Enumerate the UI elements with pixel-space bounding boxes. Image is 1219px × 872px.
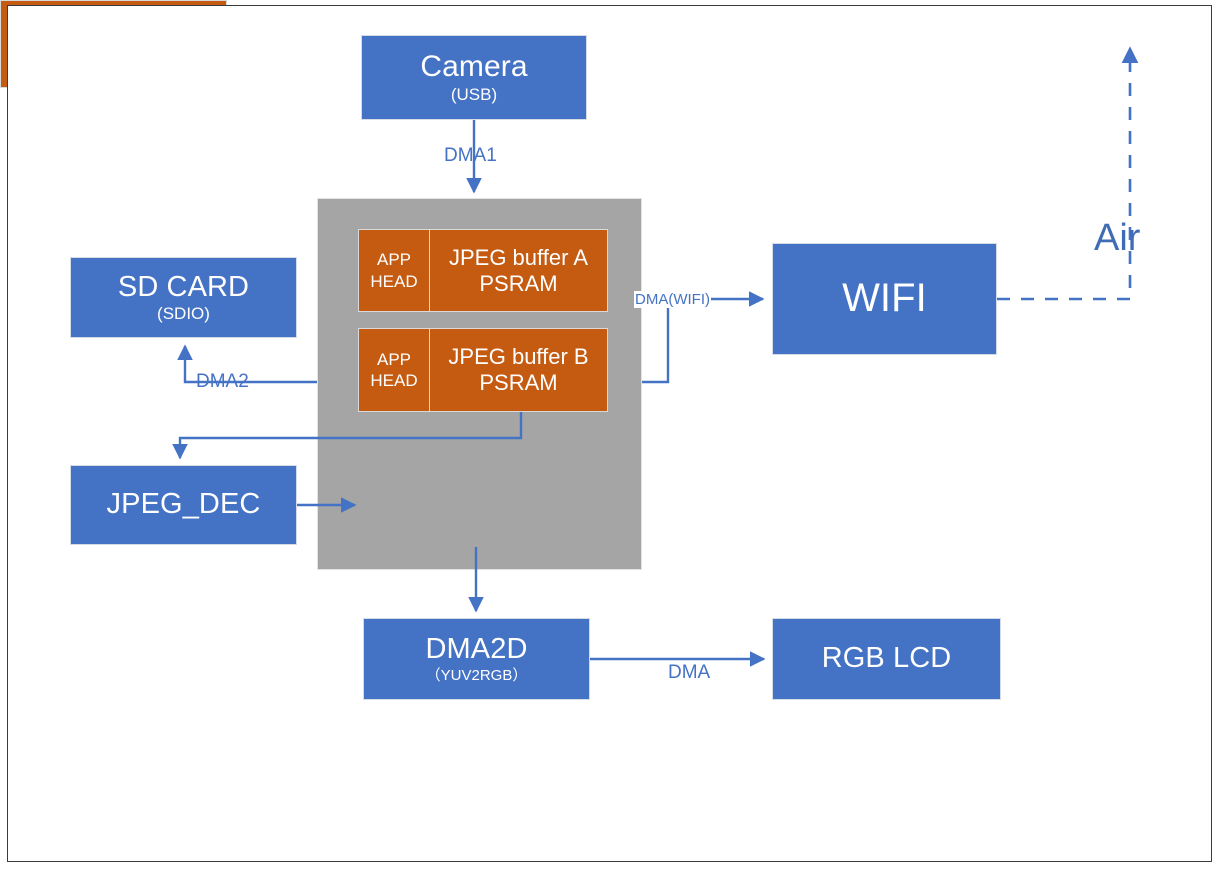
edge-label-dma-wifi: DMA(WIFI) <box>634 291 711 308</box>
node-jpeg-dec[interactable]: JPEG_DEC <box>70 465 297 545</box>
node-camera-title: Camera <box>420 51 527 83</box>
node-sd-card[interactable]: SD CARD (SDIO) <box>70 257 297 338</box>
edge-label-dma1: DMA1 <box>444 146 497 165</box>
node-jpeg-dec-title: JPEG_DEC <box>107 489 261 520</box>
jpeg-buffer-b-body: JPEG buffer B PSRAM <box>430 329 607 411</box>
jpeg-buffer-a-body: JPEG buffer A PSRAM <box>430 230 607 311</box>
node-dma2d-title: DMA2D <box>425 634 527 665</box>
jpeg-buffer-b-line1: JPEG buffer B <box>448 344 588 370</box>
node-sd-card-subtitle: (SDIO) <box>157 305 210 323</box>
annotation-air: Air <box>1094 219 1140 257</box>
edge-label-dma2: DMA2 <box>196 372 249 391</box>
jpeg-buffer-b-app-head-line1: APP <box>377 349 411 370</box>
jpeg-buffer-a-app-head-line2: HEAD <box>370 271 417 292</box>
jpeg-buffer-b-line2: PSRAM <box>479 370 557 396</box>
node-camera[interactable]: Camera (USB) <box>361 35 587 120</box>
node-camera-subtitle: (USB) <box>451 86 497 104</box>
jpeg-buffer-b[interactable]: APP HEAD JPEG buffer B PSRAM <box>358 328 608 412</box>
jpeg-buffer-a-line1: JPEG buffer A <box>449 245 588 271</box>
node-sd-card-title: SD CARD <box>118 272 249 303</box>
diagram-canvas: Camera (USB) SD CARD (SDIO) JPEG_DEC WIF… <box>0 0 1219 872</box>
jpeg-buffer-b-app-head: APP HEAD <box>359 329 430 411</box>
jpeg-buffer-a-app-head: APP HEAD <box>359 230 430 311</box>
node-dma2d-subtitle: （YUV2RGB） <box>426 668 528 684</box>
jpeg-buffer-a[interactable]: APP HEAD JPEG buffer A PSRAM <box>358 229 608 312</box>
jpeg-buffer-a-line2: PSRAM <box>479 271 557 297</box>
node-rgb-lcd-title: RGB LCD <box>822 643 952 674</box>
edge-label-dma: DMA <box>668 663 710 682</box>
jpeg-buffer-b-app-head-line2: HEAD <box>370 370 417 391</box>
node-dma2d[interactable]: DMA2D （YUV2RGB） <box>363 618 590 700</box>
node-rgb-lcd[interactable]: RGB LCD <box>772 618 1001 700</box>
node-wifi[interactable]: WIFI <box>772 243 997 355</box>
jpeg-buffer-a-app-head-line1: APP <box>377 249 411 270</box>
node-wifi-title: WIFI <box>842 277 927 320</box>
